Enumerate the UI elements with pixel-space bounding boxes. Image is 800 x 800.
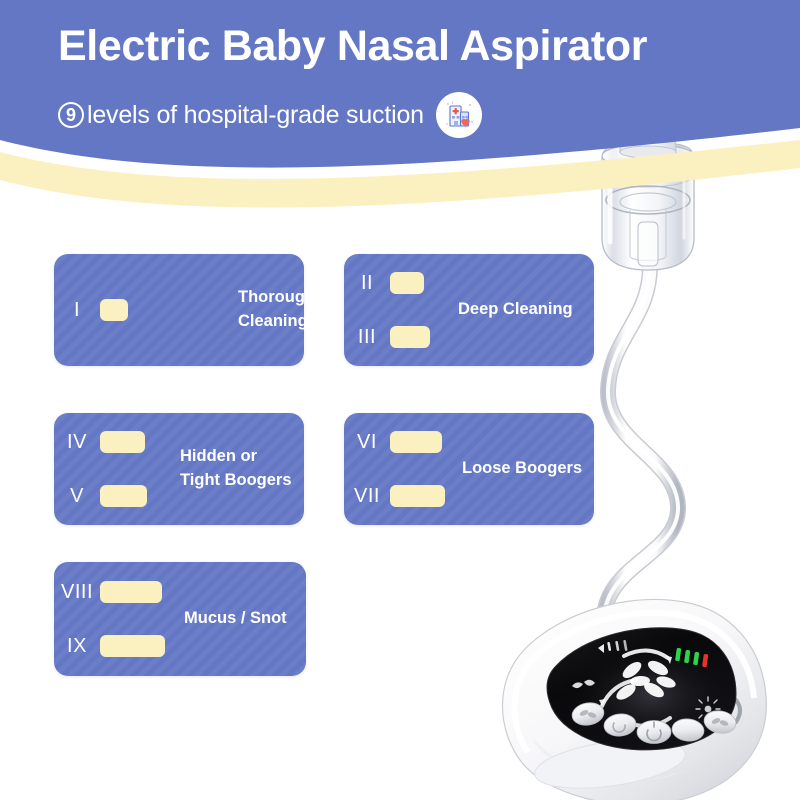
level-numeral: VII bbox=[344, 485, 390, 508]
card-label-line1: Thorough bbox=[238, 286, 348, 310]
card-thorough-cleaning[interactable]: I Thorough Cleaning bbox=[54, 254, 304, 366]
hospital-heart-icon bbox=[436, 92, 482, 138]
level-row: I bbox=[54, 291, 234, 329]
card-mucus-snot[interactable]: VIII IX Mucus / Snot bbox=[54, 562, 306, 676]
level-row: III bbox=[344, 318, 514, 356]
card-label: Loose Boogers bbox=[462, 457, 602, 481]
level-row: IX bbox=[54, 627, 234, 665]
level-row: VII bbox=[344, 477, 514, 515]
level-bar bbox=[100, 635, 165, 657]
card-label-line1: Hidden or bbox=[180, 445, 310, 469]
card-label-line2: Tight Boogers bbox=[180, 469, 310, 493]
level-row: VI bbox=[344, 423, 514, 461]
level-bar bbox=[390, 272, 424, 294]
level-bar bbox=[100, 431, 145, 453]
level-numeral: II bbox=[344, 272, 390, 295]
level-row: VIII bbox=[54, 573, 234, 611]
level-numeral: IX bbox=[54, 635, 100, 658]
level-bar bbox=[390, 431, 442, 453]
level-bar bbox=[390, 485, 445, 507]
level-numeral: VI bbox=[344, 431, 390, 454]
page-title: Electric Baby Nasal Aspirator bbox=[58, 22, 647, 71]
subtitle-row: 9 levels of hospital-grade suction bbox=[58, 92, 482, 138]
level-count-badge: 9 bbox=[58, 102, 84, 128]
level-numeral: III bbox=[344, 326, 390, 349]
level-bar bbox=[100, 485, 147, 507]
infographic-canvas: Electric Baby Nasal Aspirator 9 levels o… bbox=[0, 0, 800, 800]
card-deep-cleaning[interactable]: II III Deep Cleaning bbox=[344, 254, 594, 366]
card-label-line2: Cleaning bbox=[238, 310, 348, 334]
card-label: Thorough Cleaning bbox=[238, 286, 348, 334]
level-numeral: I bbox=[54, 299, 100, 322]
card-hidden-tight-boogers[interactable]: IV V Hidden or Tight Boogers bbox=[54, 413, 304, 525]
level-numeral: VIII bbox=[54, 581, 100, 604]
level-row: II bbox=[344, 264, 514, 302]
level-bar bbox=[100, 581, 162, 603]
card-label-line1: Deep Cleaning bbox=[458, 298, 598, 322]
level-bar bbox=[390, 326, 430, 348]
subtitle-text: levels of hospital-grade suction bbox=[87, 101, 424, 130]
card-label: Deep Cleaning bbox=[458, 298, 598, 322]
level-numeral: V bbox=[54, 485, 100, 508]
motor-base-unit bbox=[503, 599, 767, 800]
level-numeral: IV bbox=[54, 431, 100, 454]
card-loose-boogers[interactable]: VI VII Loose Boogers bbox=[344, 413, 594, 525]
card-label-line1: Mucus / Snot bbox=[184, 607, 314, 631]
level-bar bbox=[100, 299, 128, 321]
card-label-line1: Loose Boogers bbox=[462, 457, 602, 481]
card-label: Mucus / Snot bbox=[184, 607, 314, 631]
card-label: Hidden or Tight Boogers bbox=[180, 445, 310, 493]
